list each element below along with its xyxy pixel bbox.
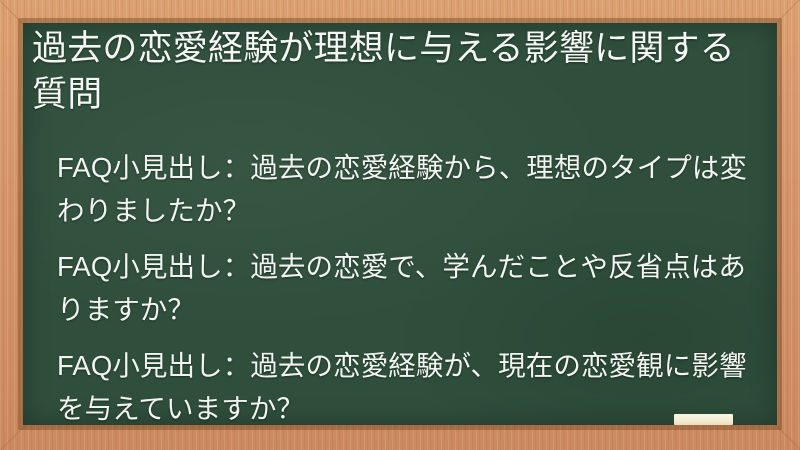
faq-list: FAQ小見出し：過去の恋愛経験から、理想のタイプは変わりましたか？ FAQ小見出… — [57, 146, 749, 425]
list-item: FAQ小見出し：過去の恋愛経験が、現在の恋愛観に影響を与えていますか？ — [57, 344, 749, 425]
list-item: FAQ小見出し：過去の恋愛で、学んだことや反省点はありますか？ — [57, 245, 749, 331]
chalk-icon — [674, 414, 733, 425]
chalkboard-surface: 過去の恋愛経験が理想に与える影響に関する質問 FAQ小見出し：過去の恋愛経験から… — [23, 23, 777, 425]
page-title: 過去の恋愛経験が理想に与える影響に関する質問 — [32, 26, 748, 118]
list-item: FAQ小見出し：過去の恋愛経験から、理想のタイプは変わりましたか？ — [57, 146, 749, 232]
blackboard-frame: 過去の恋愛経験が理想に与える影響に関する質問 FAQ小見出し：過去の恋愛経験から… — [0, 0, 800, 450]
